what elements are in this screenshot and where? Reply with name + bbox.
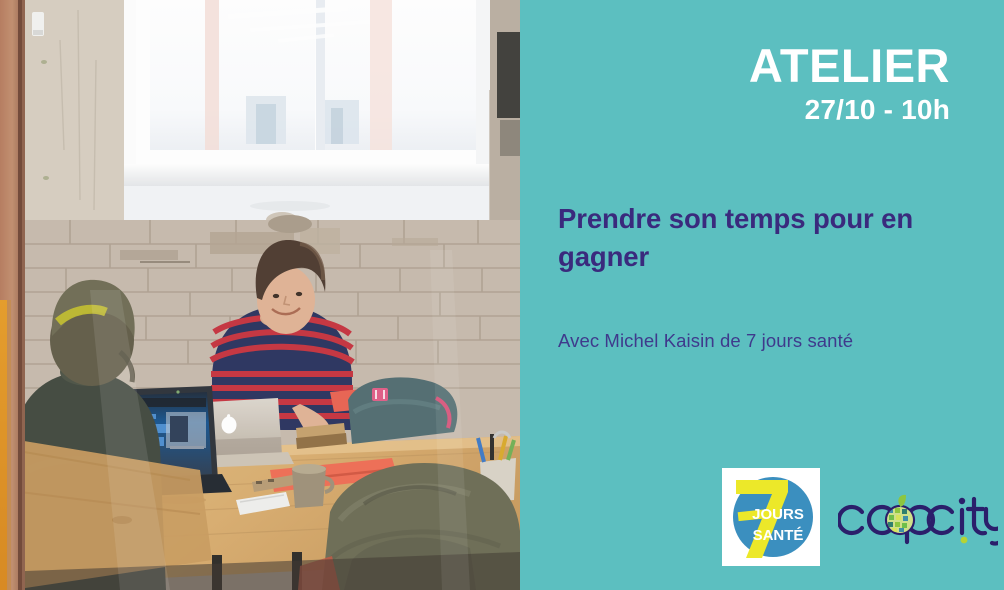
kicker-block: ATELIER 27/10 - 10h xyxy=(520,42,950,127)
photo-overlay xyxy=(0,0,520,590)
logo-row: JOURS SANTÉ xyxy=(520,468,1004,568)
info-panel: ATELIER 27/10 - 10h Prendre son temps po… xyxy=(520,0,1004,590)
letter-i-dot xyxy=(959,498,965,504)
letter-y-tail xyxy=(992,520,998,544)
coworking-photo xyxy=(0,0,520,590)
logo-7-jours-sante-mark: JOURS SANTÉ xyxy=(722,468,820,566)
logo-7-jours-sante: JOURS SANTÉ xyxy=(722,468,820,566)
event-datetime: 27/10 - 10h xyxy=(520,92,950,127)
event-banner: ATELIER 27/10 - 10h Prendre son temps po… xyxy=(0,0,1004,590)
logo-coopcity-mark xyxy=(838,490,998,546)
accent-dot-green xyxy=(961,537,968,544)
event-type-heading: ATELIER xyxy=(520,42,950,90)
event-speaker: Avec Michel Kaisin de 7 jours santé xyxy=(558,330,978,352)
event-title: Prendre son temps pour en gagner xyxy=(558,200,940,276)
letter-c1 xyxy=(839,507,862,533)
letter-t xyxy=(974,499,985,533)
logo-text-sante: SANTÉ xyxy=(753,527,804,544)
letter-y-bowl xyxy=(986,509,998,529)
photo-illustration xyxy=(0,0,520,590)
coopcity-mosaic xyxy=(887,507,913,533)
logo-coopcity xyxy=(838,490,998,546)
coopcity-letters xyxy=(839,499,998,544)
logo-text-jours: JOURS xyxy=(752,506,804,523)
